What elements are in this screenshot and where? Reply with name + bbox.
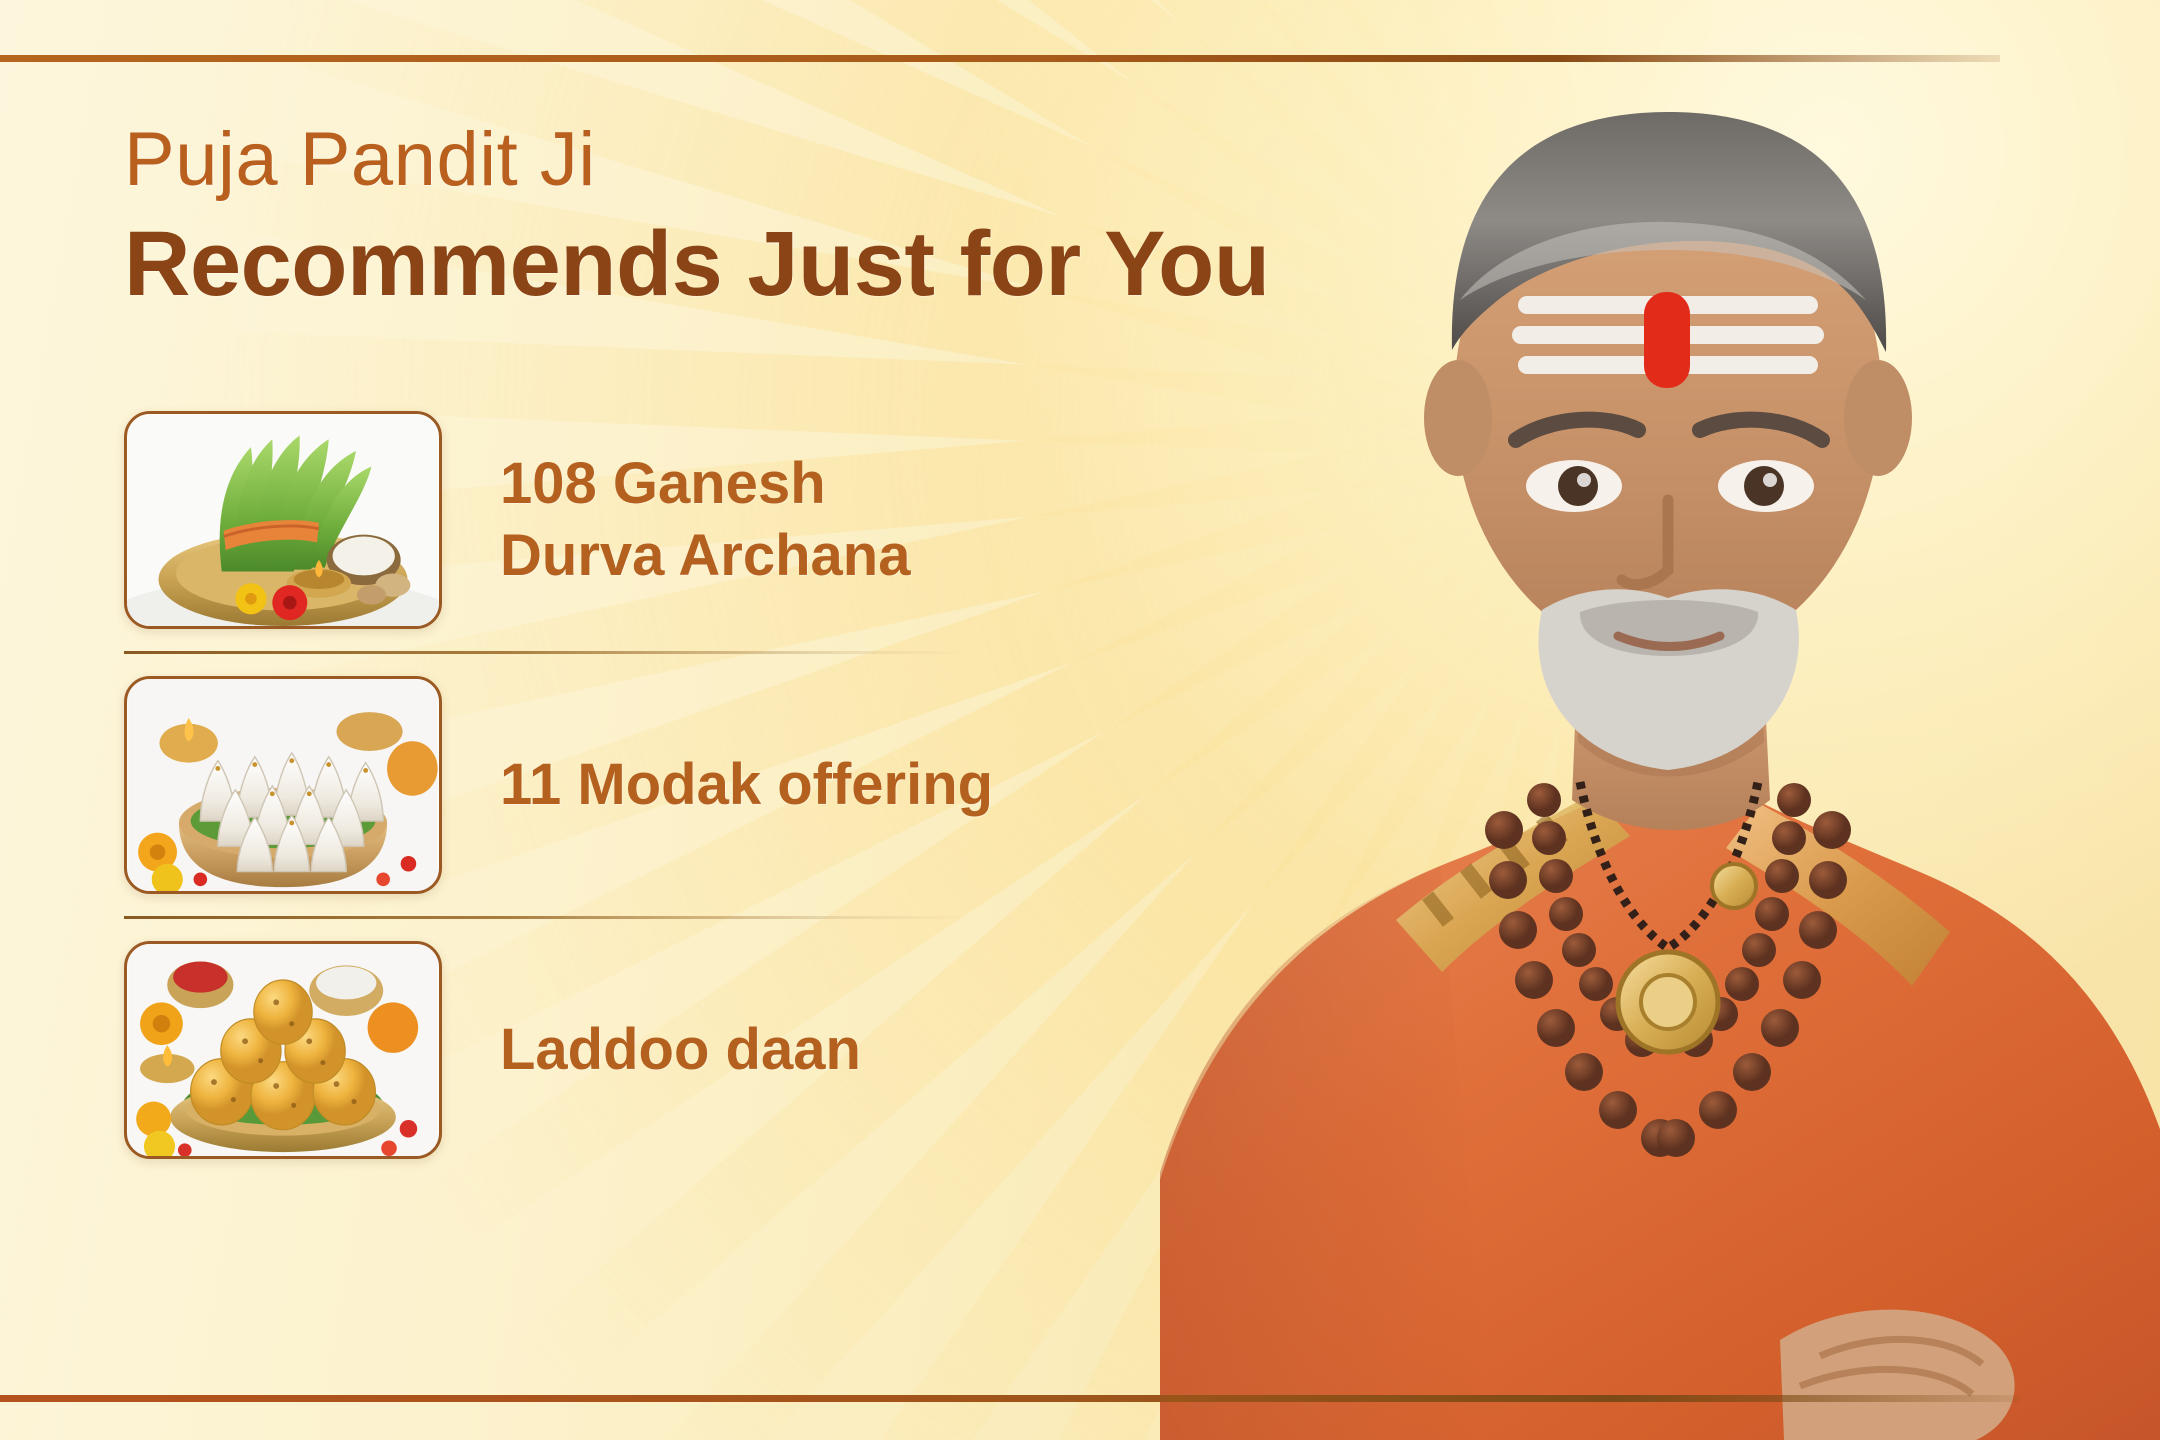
list-item[interactable]: 108 Ganesh Durva Archana xyxy=(124,389,1214,651)
modak-bowl-thumbnail[interactable] xyxy=(124,676,442,894)
laddoo-plate-thumbnail[interactable] xyxy=(124,941,442,1159)
list-item-label: 108 Ganesh Durva Archana xyxy=(500,448,910,593)
durva-grass-thali-thumbnail[interactable] xyxy=(124,411,442,629)
list-item-label: 11 Modak offering xyxy=(500,749,993,822)
recommendation-banner: Puja Pandit Ji Recommends Just for You xyxy=(0,0,2160,1440)
top-divider-rule xyxy=(0,55,2000,62)
bottom-divider-rule xyxy=(0,1395,2020,1402)
banner-eyebrow: Puja Pandit Ji xyxy=(124,120,1544,200)
banner-headline: Recommends Just for You xyxy=(124,216,1544,314)
banner-content: Puja Pandit Ji Recommends Just for You xyxy=(124,120,1544,1181)
list-item-label: Laddoo daan xyxy=(500,1014,861,1087)
recommendation-list: 108 Ganesh Durva Archana xyxy=(124,389,1214,1181)
list-item[interactable]: 11 Modak offering xyxy=(124,654,1214,916)
list-item[interactable]: Laddoo daan xyxy=(124,919,1214,1181)
